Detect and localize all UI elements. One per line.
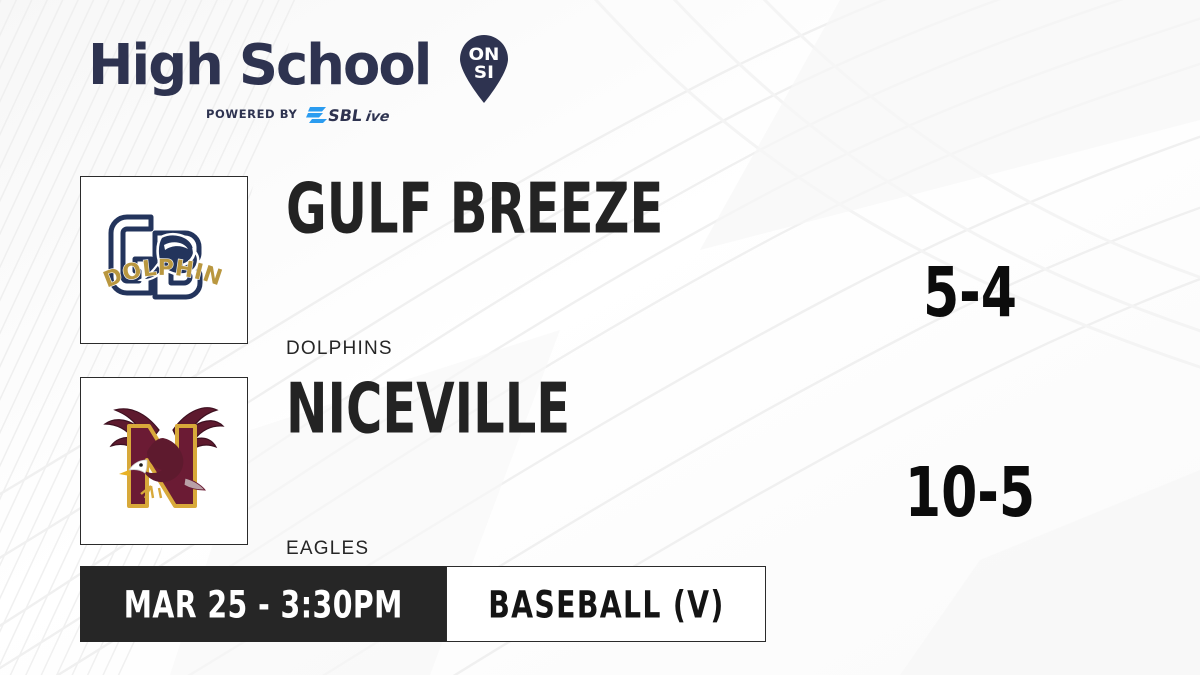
pin-label-si: SI: [474, 64, 494, 83]
game-datetime-panel: MAR 25 - 3:30PM: [80, 566, 446, 642]
game-info-bar: MAR 25 - 3:30PM BASEBALL (V): [80, 566, 766, 642]
on-si-pin-icon: ON SI: [455, 33, 513, 103]
sblive-logo: SBL ive: [306, 104, 404, 124]
team-logo-box-2: [80, 377, 248, 545]
team-record-1: 5-4: [878, 259, 1063, 327]
sblive-wordmark-ive: ive: [365, 109, 391, 124]
high-school-wordmark: High School: [88, 37, 430, 95]
powered-by-row: POWERED BY SBL ive: [206, 104, 513, 124]
game-sport-panel: BASEBALL (V): [446, 566, 766, 642]
team-record-2: 10-5: [878, 459, 1063, 527]
game-sport-text: BASEBALL (V): [488, 585, 724, 622]
pin-label-on: ON: [469, 46, 500, 65]
brand-header: High School ON SI POWERED BY SBL: [88, 34, 513, 124]
team-mascot-1: DOLPHINS: [286, 338, 393, 360]
niceville-eagles-logo: [89, 386, 239, 536]
matchup-graphic: High School ON SI POWERED BY SBL: [0, 0, 1200, 675]
team-mascot-2: EAGLES: [286, 538, 369, 560]
gulf-breeze-dolphins-logo: DOLPHINS: [89, 185, 239, 335]
team-logo-box-1: DOLPHINS: [80, 176, 248, 344]
team-name-1: GULF BREEZE: [286, 174, 663, 243]
sblive-wordmark-text: SBL: [327, 106, 364, 124]
game-datetime-text: MAR 25 - 3:30PM: [123, 585, 402, 622]
powered-by-label: POWERED BY: [206, 107, 297, 121]
team-name-2: NICEVILLE: [286, 374, 570, 443]
